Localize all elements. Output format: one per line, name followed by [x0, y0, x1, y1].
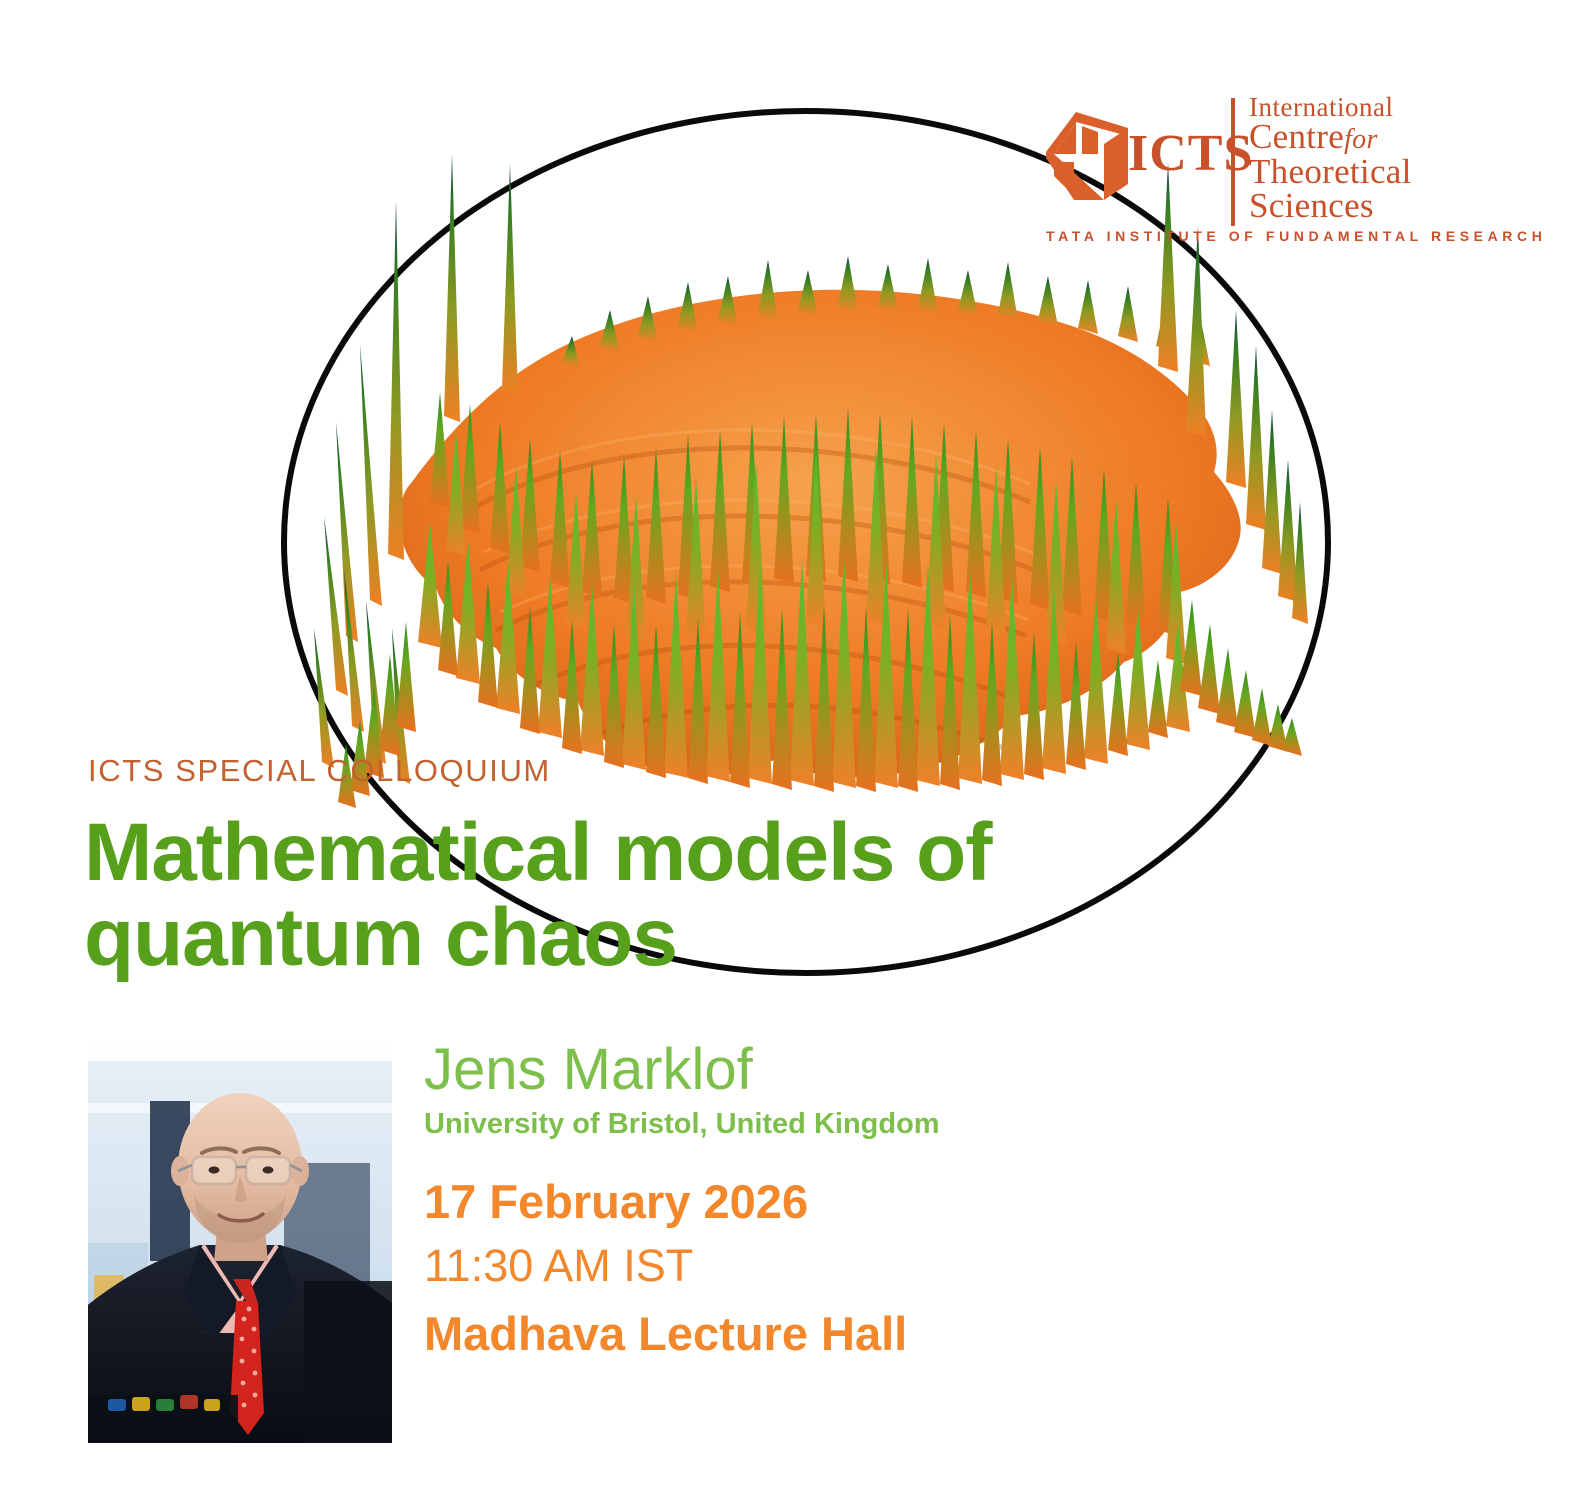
speaker-affiliation: University of Bristol, United Kingdom [424, 1108, 940, 1141]
title-line-2: quantum chaos [84, 895, 1134, 980]
logo-divider [1231, 98, 1235, 226]
event-venue: Madhava Lecture Hall [424, 1306, 907, 1361]
logo-line-international: International [1249, 92, 1549, 120]
event-time: 11:30 AM IST [424, 1240, 693, 1292]
icts-logo: ICTS International Centrefor Theoretical… [1046, 92, 1536, 260]
poster-title: Mathematical models of quantum chaos [84, 810, 1134, 981]
speaker-portrait-svg [88, 1043, 392, 1443]
title-line-1: Mathematical models of [84, 810, 1134, 895]
speaker-name: Jens Marklof [424, 1040, 753, 1101]
icts-mark-svg [1046, 110, 1132, 202]
logo-centre-text: Centre [1249, 117, 1344, 156]
logo-tifr-tagline: TATA INSTITUTE OF FUNDAMENTAL RESEARCH [1046, 228, 1546, 244]
logo-for-text: for [1344, 124, 1378, 155]
colloquium-poster: ICTS International Centrefor Theoretical… [0, 0, 1584, 1506]
logo-line-sciences: Sciences [1249, 189, 1549, 223]
speaker-photo [88, 1043, 392, 1443]
poster-kicker: ICTS SPECIAL COLLOQUIUM [88, 753, 551, 789]
icts-diamond-mark-icon [1046, 110, 1132, 202]
surface-spikes-right-flank [1180, 600, 1302, 756]
event-date: 17 February 2026 [424, 1174, 808, 1229]
logo-wordmark: International Centrefor Theoretical Scie… [1249, 92, 1549, 223]
logo-line-theoretical: Theoretical [1249, 155, 1549, 189]
logo-line-centre-for: Centrefor [1249, 120, 1549, 154]
